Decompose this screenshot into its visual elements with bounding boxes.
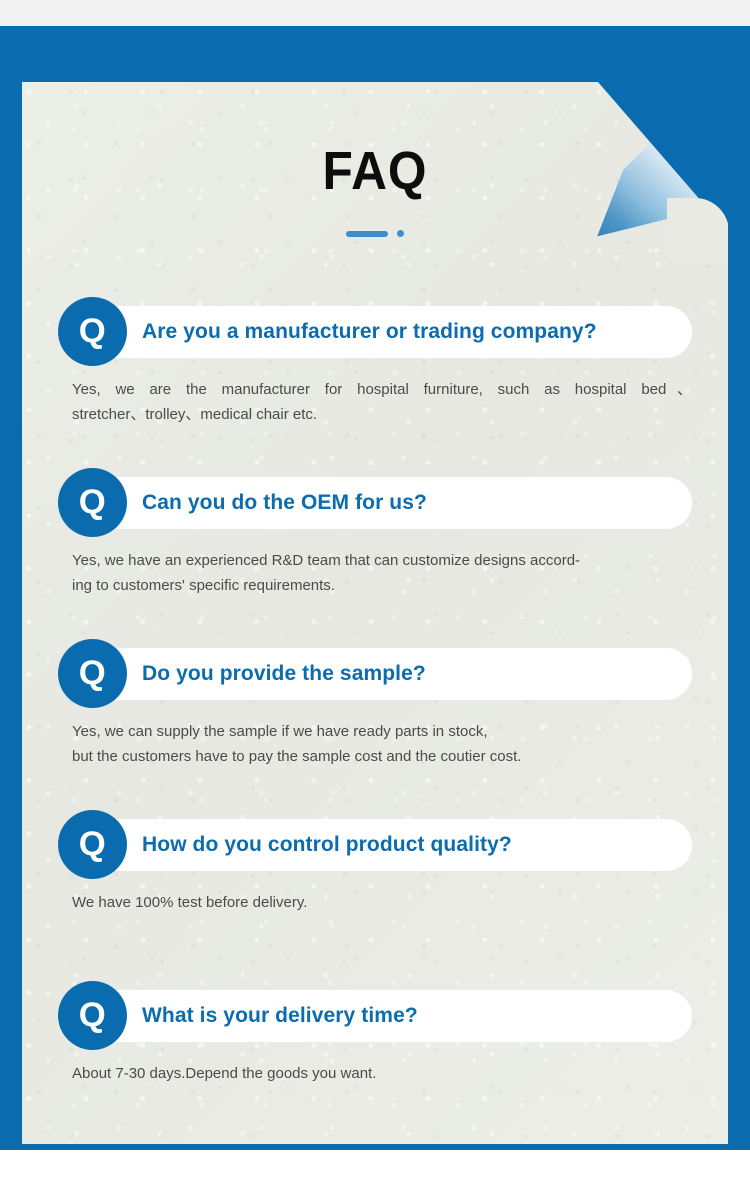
faq-answer-text: Yes, we have an experienced R&D team tha… bbox=[72, 548, 692, 598]
question-badge-letter: Q bbox=[79, 827, 106, 861]
faq-item[interactable]: Q How do you control product quality? We… bbox=[22, 809, 728, 980]
title-divider bbox=[22, 230, 728, 237]
question-badge-letter: Q bbox=[79, 656, 106, 690]
faq-answer-line: but the customers have to pay the sample… bbox=[72, 744, 692, 769]
faq-question-text: Are you a manufacturer or trading compan… bbox=[142, 306, 597, 358]
question-badge-icon: Q bbox=[58, 810, 127, 879]
faq-answer-line: Yes, we have an experienced R&D team tha… bbox=[72, 548, 692, 573]
question-badge-icon: Q bbox=[58, 297, 127, 366]
faq-list: Q Are you a manufacturer or trading comp… bbox=[22, 296, 728, 1144]
faq-answer-line: We have 100% test before delivery. bbox=[72, 890, 692, 915]
faq-answer-text: Yes, we can supply the sample if we have… bbox=[72, 719, 692, 769]
faq-answer-line: Yes, we are the manufacturer for hospita… bbox=[72, 377, 692, 402]
question-badge-letter: Q bbox=[79, 485, 106, 519]
faq-answer-line: stretcher、trolley、medical chair etc. bbox=[72, 402, 692, 427]
question-badge-letter: Q bbox=[79, 314, 106, 348]
faq-question-text: How do you control product quality? bbox=[142, 819, 512, 871]
faq-item[interactable]: Q What is your delivery time? About 7-30… bbox=[22, 980, 728, 1144]
question-badge-letter: Q bbox=[79, 998, 106, 1032]
faq-answer-text: Yes, we are the manufacturer for hospita… bbox=[72, 377, 692, 427]
divider-dot-icon bbox=[397, 230, 404, 237]
question-badge-icon: Q bbox=[58, 639, 127, 708]
faq-question-text: Can you do the OEM for us? bbox=[142, 477, 427, 529]
faq-answer-text: About 7-30 days.Depend the goods you wan… bbox=[72, 1061, 692, 1086]
question-badge-icon: Q bbox=[58, 981, 127, 1050]
faq-item[interactable]: Q Can you do the OEM for us? Yes, we hav… bbox=[22, 467, 728, 638]
page-title-wrap: FAQ bbox=[22, 144, 728, 198]
faq-question-text: What is your delivery time? bbox=[142, 990, 418, 1042]
page-title: FAQ bbox=[323, 144, 428, 198]
paper-panel: FAQ Q Are you a manufacturer or trading … bbox=[22, 82, 728, 1144]
blue-border-frame: FAQ Q Are you a manufacturer or trading … bbox=[0, 26, 750, 1150]
top-background-strip bbox=[0, 0, 750, 26]
faq-answer-line: Yes, we can supply the sample if we have… bbox=[72, 719, 692, 744]
divider-bar-icon bbox=[346, 231, 388, 237]
question-badge-icon: Q bbox=[58, 468, 127, 537]
faq-question-text: Do you provide the sample? bbox=[142, 648, 426, 700]
faq-answer-line: About 7-30 days.Depend the goods you wan… bbox=[72, 1061, 692, 1086]
faq-answer-text: We have 100% test before delivery. bbox=[72, 890, 692, 915]
page-curl-rounded-corner bbox=[667, 198, 728, 260]
faq-answer-line: ing to customers' specific requirements. bbox=[72, 573, 692, 598]
faq-item[interactable]: Q Are you a manufacturer or trading comp… bbox=[22, 296, 728, 467]
faq-item[interactable]: Q Do you provide the sample? Yes, we can… bbox=[22, 638, 728, 809]
